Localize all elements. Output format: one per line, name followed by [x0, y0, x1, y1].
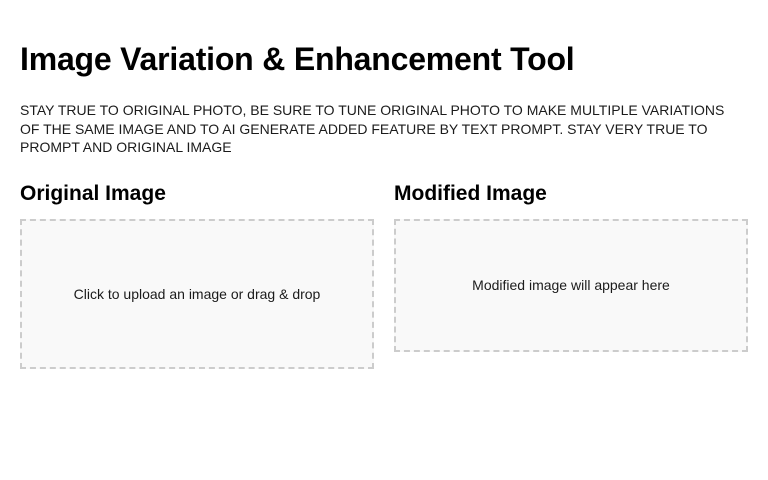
content-container: Image Variation & Enhancement Tool STAY …	[0, 0, 768, 369]
original-image-heading: Original Image	[20, 182, 374, 206]
app-description: STAY TRUE TO ORIGINAL PHOTO, BE SURE TO …	[20, 78, 744, 157]
original-image-dropzone[interactable]: Click to upload an image or drag & drop	[20, 219, 374, 369]
modified-image-placeholder: Modified image will appear here	[394, 219, 748, 352]
page-title: Image Variation & Enhancement Tool	[20, 0, 748, 78]
modified-image-heading: Modified Image	[394, 182, 748, 206]
image-panels: Original Image Click to upload an image …	[20, 157, 748, 369]
modified-placeholder-label: Modified image will appear here	[472, 276, 670, 294]
original-image-panel: Original Image Click to upload an image …	[20, 182, 374, 369]
modified-image-panel: Modified Image Modified image will appea…	[394, 182, 748, 352]
original-dropzone-label: Click to upload an image or drag & drop	[74, 285, 321, 303]
app-root: Image Variation & Enhancement Tool STAY …	[0, 0, 768, 480]
